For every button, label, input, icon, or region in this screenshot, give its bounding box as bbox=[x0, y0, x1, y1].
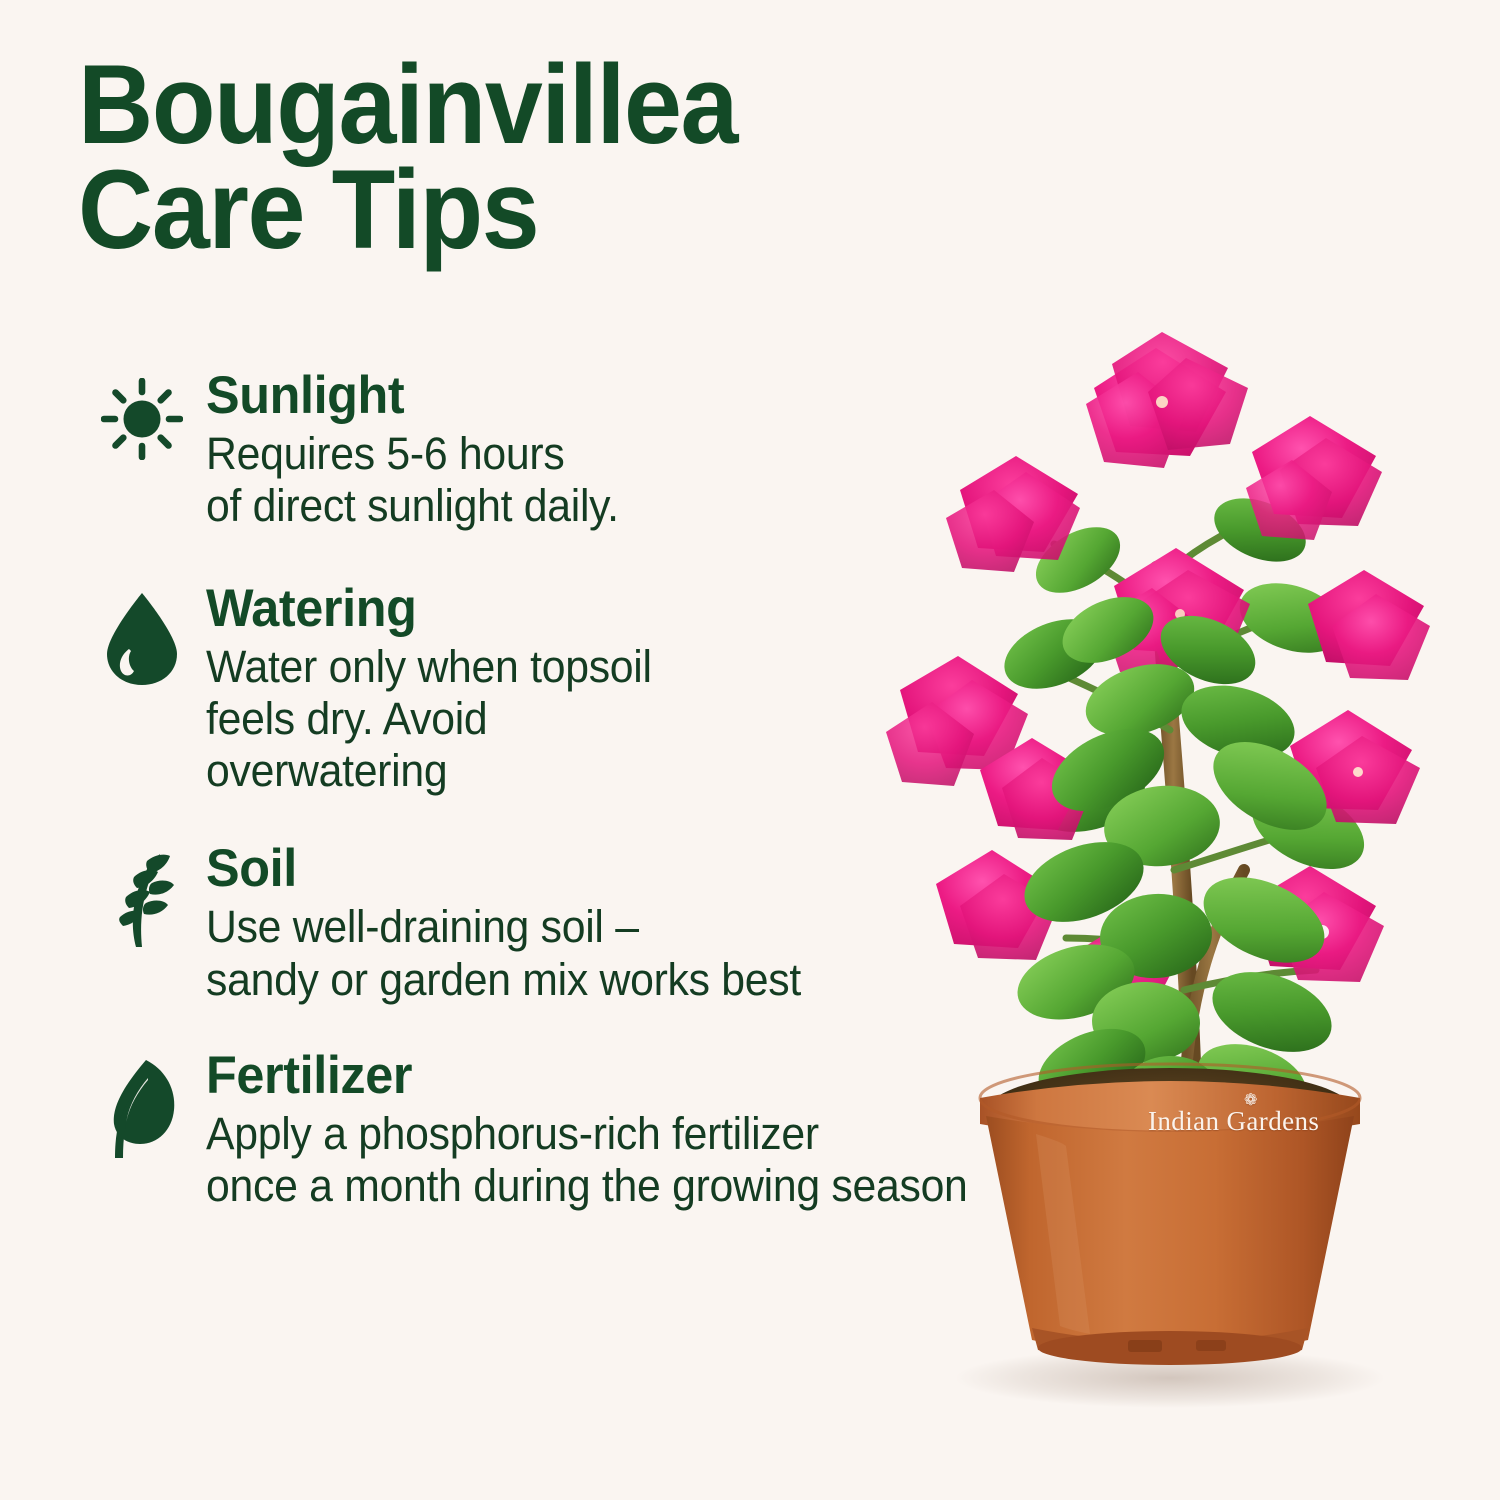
tip-title: Fertilizer bbox=[206, 1048, 1091, 1104]
tip-body: Soil Use well-draining soil – sandy or g… bbox=[206, 841, 1138, 1006]
water-drop-icon bbox=[103, 591, 181, 687]
tip-item-fertilizer: Fertilizer Apply a phosphorus-rich ferti… bbox=[78, 1048, 1138, 1213]
page-title: Bougainvillea Care Tips bbox=[78, 52, 915, 263]
tip-icon-container bbox=[78, 1048, 206, 1162]
tip-description: Use well-draining soil – sandy or garden… bbox=[206, 901, 1091, 1005]
tip-icon-container bbox=[78, 368, 206, 460]
tip-title: Soil bbox=[206, 841, 1091, 897]
tip-item-watering: Watering Water only when topsoil feels d… bbox=[78, 581, 1138, 798]
tip-title: Watering bbox=[206, 581, 1091, 637]
tip-description: Requires 5-6 hours of direct sunlight da… bbox=[206, 428, 1091, 532]
wheat-sprout-icon bbox=[100, 851, 184, 949]
sun-icon bbox=[101, 378, 183, 460]
tip-body: Fertilizer Apply a phosphorus-rich ferti… bbox=[206, 1048, 1138, 1213]
watermark-indian-gardens: Indian Gardens ❁ bbox=[1148, 1106, 1319, 1137]
tip-icon-container bbox=[78, 841, 206, 949]
tip-description: Water only when topsoil feels dry. Avoid… bbox=[206, 641, 1091, 798]
tip-item-soil: Soil Use well-draining soil – sandy or g… bbox=[78, 841, 1138, 1006]
tip-title: Sunlight bbox=[206, 368, 1091, 424]
tip-body: Sunlight Requires 5-6 hours of direct su… bbox=[206, 368, 1138, 533]
tip-icon-container bbox=[78, 581, 206, 687]
care-tips-list: Sunlight Requires 5-6 hours of direct su… bbox=[78, 368, 1138, 1212]
tip-item-sunlight: Sunlight Requires 5-6 hours of direct su… bbox=[78, 368, 1138, 533]
sprig-icon: ❁ bbox=[1244, 1093, 1258, 1109]
watermark-text: Indian Gardens bbox=[1148, 1106, 1319, 1136]
tip-body: Watering Water only when topsoil feels d… bbox=[206, 581, 1138, 798]
infographic-poster: Bougainvillea Care Tips bbox=[0, 0, 1500, 1500]
leaf-icon bbox=[102, 1058, 182, 1162]
tip-description: Apply a phosphorus-rich fertilizer once … bbox=[206, 1108, 1091, 1212]
